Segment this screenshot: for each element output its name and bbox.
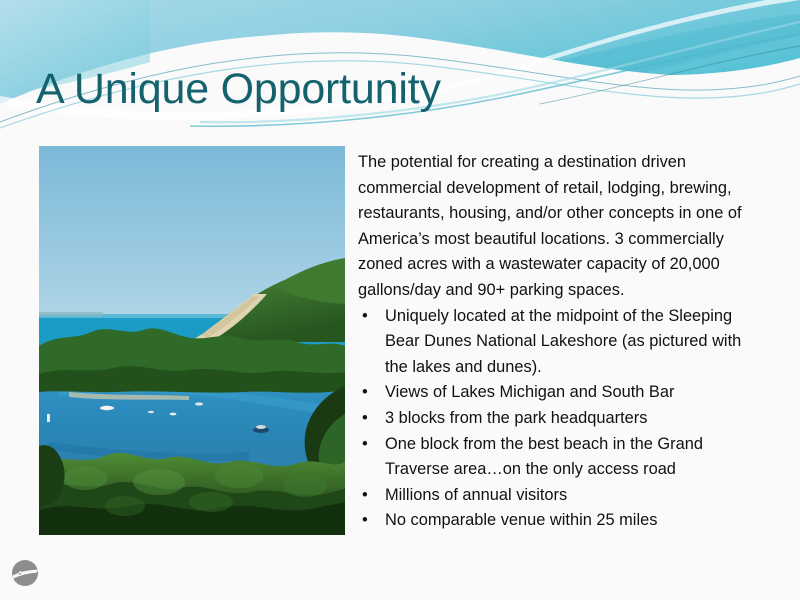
page-title: A Unique Opportunity [36, 66, 441, 113]
body-text-column: The potential for creating a destination… [358, 150, 746, 534]
bullet-marker-icon: • [362, 483, 368, 509]
list-item: • Uniquely located at the midpoint of th… [358, 304, 746, 381]
slide: A Unique Opportunity [0, 0, 800, 600]
intro-paragraph: The potential for creating a destination… [358, 150, 746, 304]
dune-circle-logo-icon [10, 558, 40, 588]
list-item: • Views of Lakes Michigan and South Bar [358, 380, 746, 406]
list-item-label: No comparable venue within 25 miles [385, 511, 657, 529]
bullet-marker-icon: • [362, 508, 368, 534]
list-item: • No comparable venue within 25 miles [358, 508, 746, 534]
list-item-label: 3 blocks from the park headquarters [385, 409, 647, 427]
list-item: • 3 blocks from the park headquarters [358, 406, 746, 432]
bullet-marker-icon: • [362, 432, 368, 458]
list-item: • One block from the best beach in the G… [358, 432, 746, 483]
list-item: • Millions of annual visitors [358, 483, 746, 509]
list-item-label: One block from the best beach in the Gra… [385, 435, 703, 479]
list-item-label: Views of Lakes Michigan and South Bar [385, 383, 674, 401]
list-item-label: Millions of annual visitors [385, 486, 567, 504]
sleeping-bear-dunes-photo [39, 146, 345, 535]
feature-bullet-list: • Uniquely located at the midpoint of th… [358, 304, 746, 534]
list-item-label: Uniquely located at the midpoint of the … [385, 307, 741, 376]
bullet-marker-icon: • [362, 304, 368, 330]
bullet-marker-icon: • [362, 406, 368, 432]
bullet-marker-icon: • [362, 380, 368, 406]
